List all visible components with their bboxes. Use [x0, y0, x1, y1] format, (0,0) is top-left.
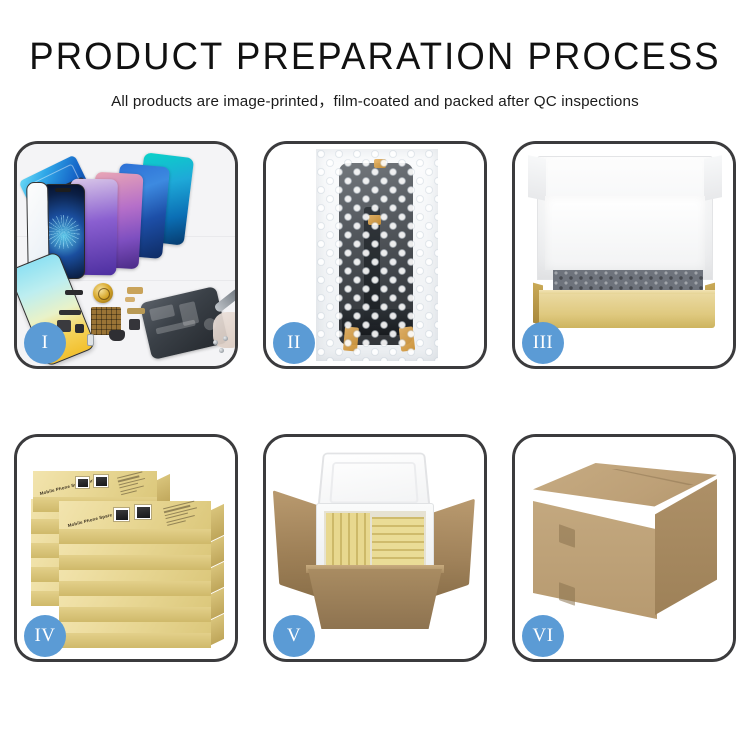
product-preparation-infographic: PRODUCT PREPARATION PROCESS All products… [0, 0, 750, 750]
bubble-wrap-bag-graphic [316, 149, 438, 361]
foam-sheet-graphic [545, 196, 705, 270]
step-panel-3[interactable]: III [512, 141, 736, 369]
step-panel-4[interactable]: Mobile Phone Spare Parts [14, 434, 238, 662]
packed-boxes-graphic [324, 511, 426, 567]
box-item-printed: Mobile Phone Spare Parts [59, 501, 211, 529]
step-panel-1[interactable]: I [14, 141, 238, 369]
carton-left-face [533, 501, 657, 619]
step-badge-2: II [273, 322, 315, 364]
step-badge-4: IV [24, 615, 66, 657]
step-badge-1: I [24, 322, 66, 364]
box-item-printed: Mobile Phone Spare Parts [33, 471, 157, 497]
step-panel-5[interactable]: V [263, 434, 487, 662]
bubble-texture [316, 149, 438, 361]
sealed-carton-graphic [533, 463, 717, 623]
process-step-grid: I II [14, 141, 736, 691]
step-badge-5: V [273, 615, 315, 657]
box-stack-graphic: Mobile Phone Spare Parts [31, 459, 227, 643]
coil-component-graphic [93, 283, 113, 303]
step-panel-6[interactable]: VI [512, 434, 736, 662]
page-subtitle: All products are image-printed，film-coat… [0, 89, 750, 111]
box-front-graphic [539, 294, 715, 328]
carton-front-graphic [308, 569, 442, 629]
step-badge-3: III [522, 322, 564, 364]
step-panel-2[interactable]: II [263, 141, 487, 369]
step-badge-6: VI [522, 615, 564, 657]
page-title: PRODUCT PREPARATION PROCESS [15, 38, 735, 78]
header: PRODUCT PREPARATION PROCESS All products… [0, 0, 750, 111]
